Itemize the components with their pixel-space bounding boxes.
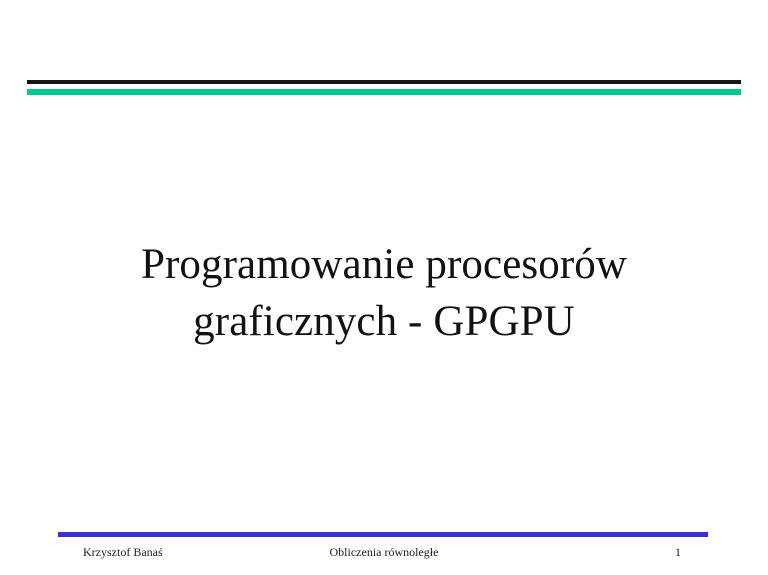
- slide-title: Programowanie procesorów graficznych - G…: [0, 236, 768, 350]
- header-rule-black: [27, 80, 741, 84]
- footer-rule: [58, 532, 708, 537]
- footer-page-number: 1: [294, 543, 768, 561]
- slide-footer: Krzysztof Banaś Obliczenia równoległe 1: [0, 543, 768, 565]
- slide-header-decoration: [27, 80, 741, 96]
- presentation-slide: Programowanie procesorów graficznych - G…: [0, 0, 768, 575]
- header-rule-green: [27, 89, 741, 95]
- slide-title-line-1: Programowanie procesorów: [0, 236, 768, 293]
- slide-title-line-2: graficznych - GPGPU: [0, 293, 768, 350]
